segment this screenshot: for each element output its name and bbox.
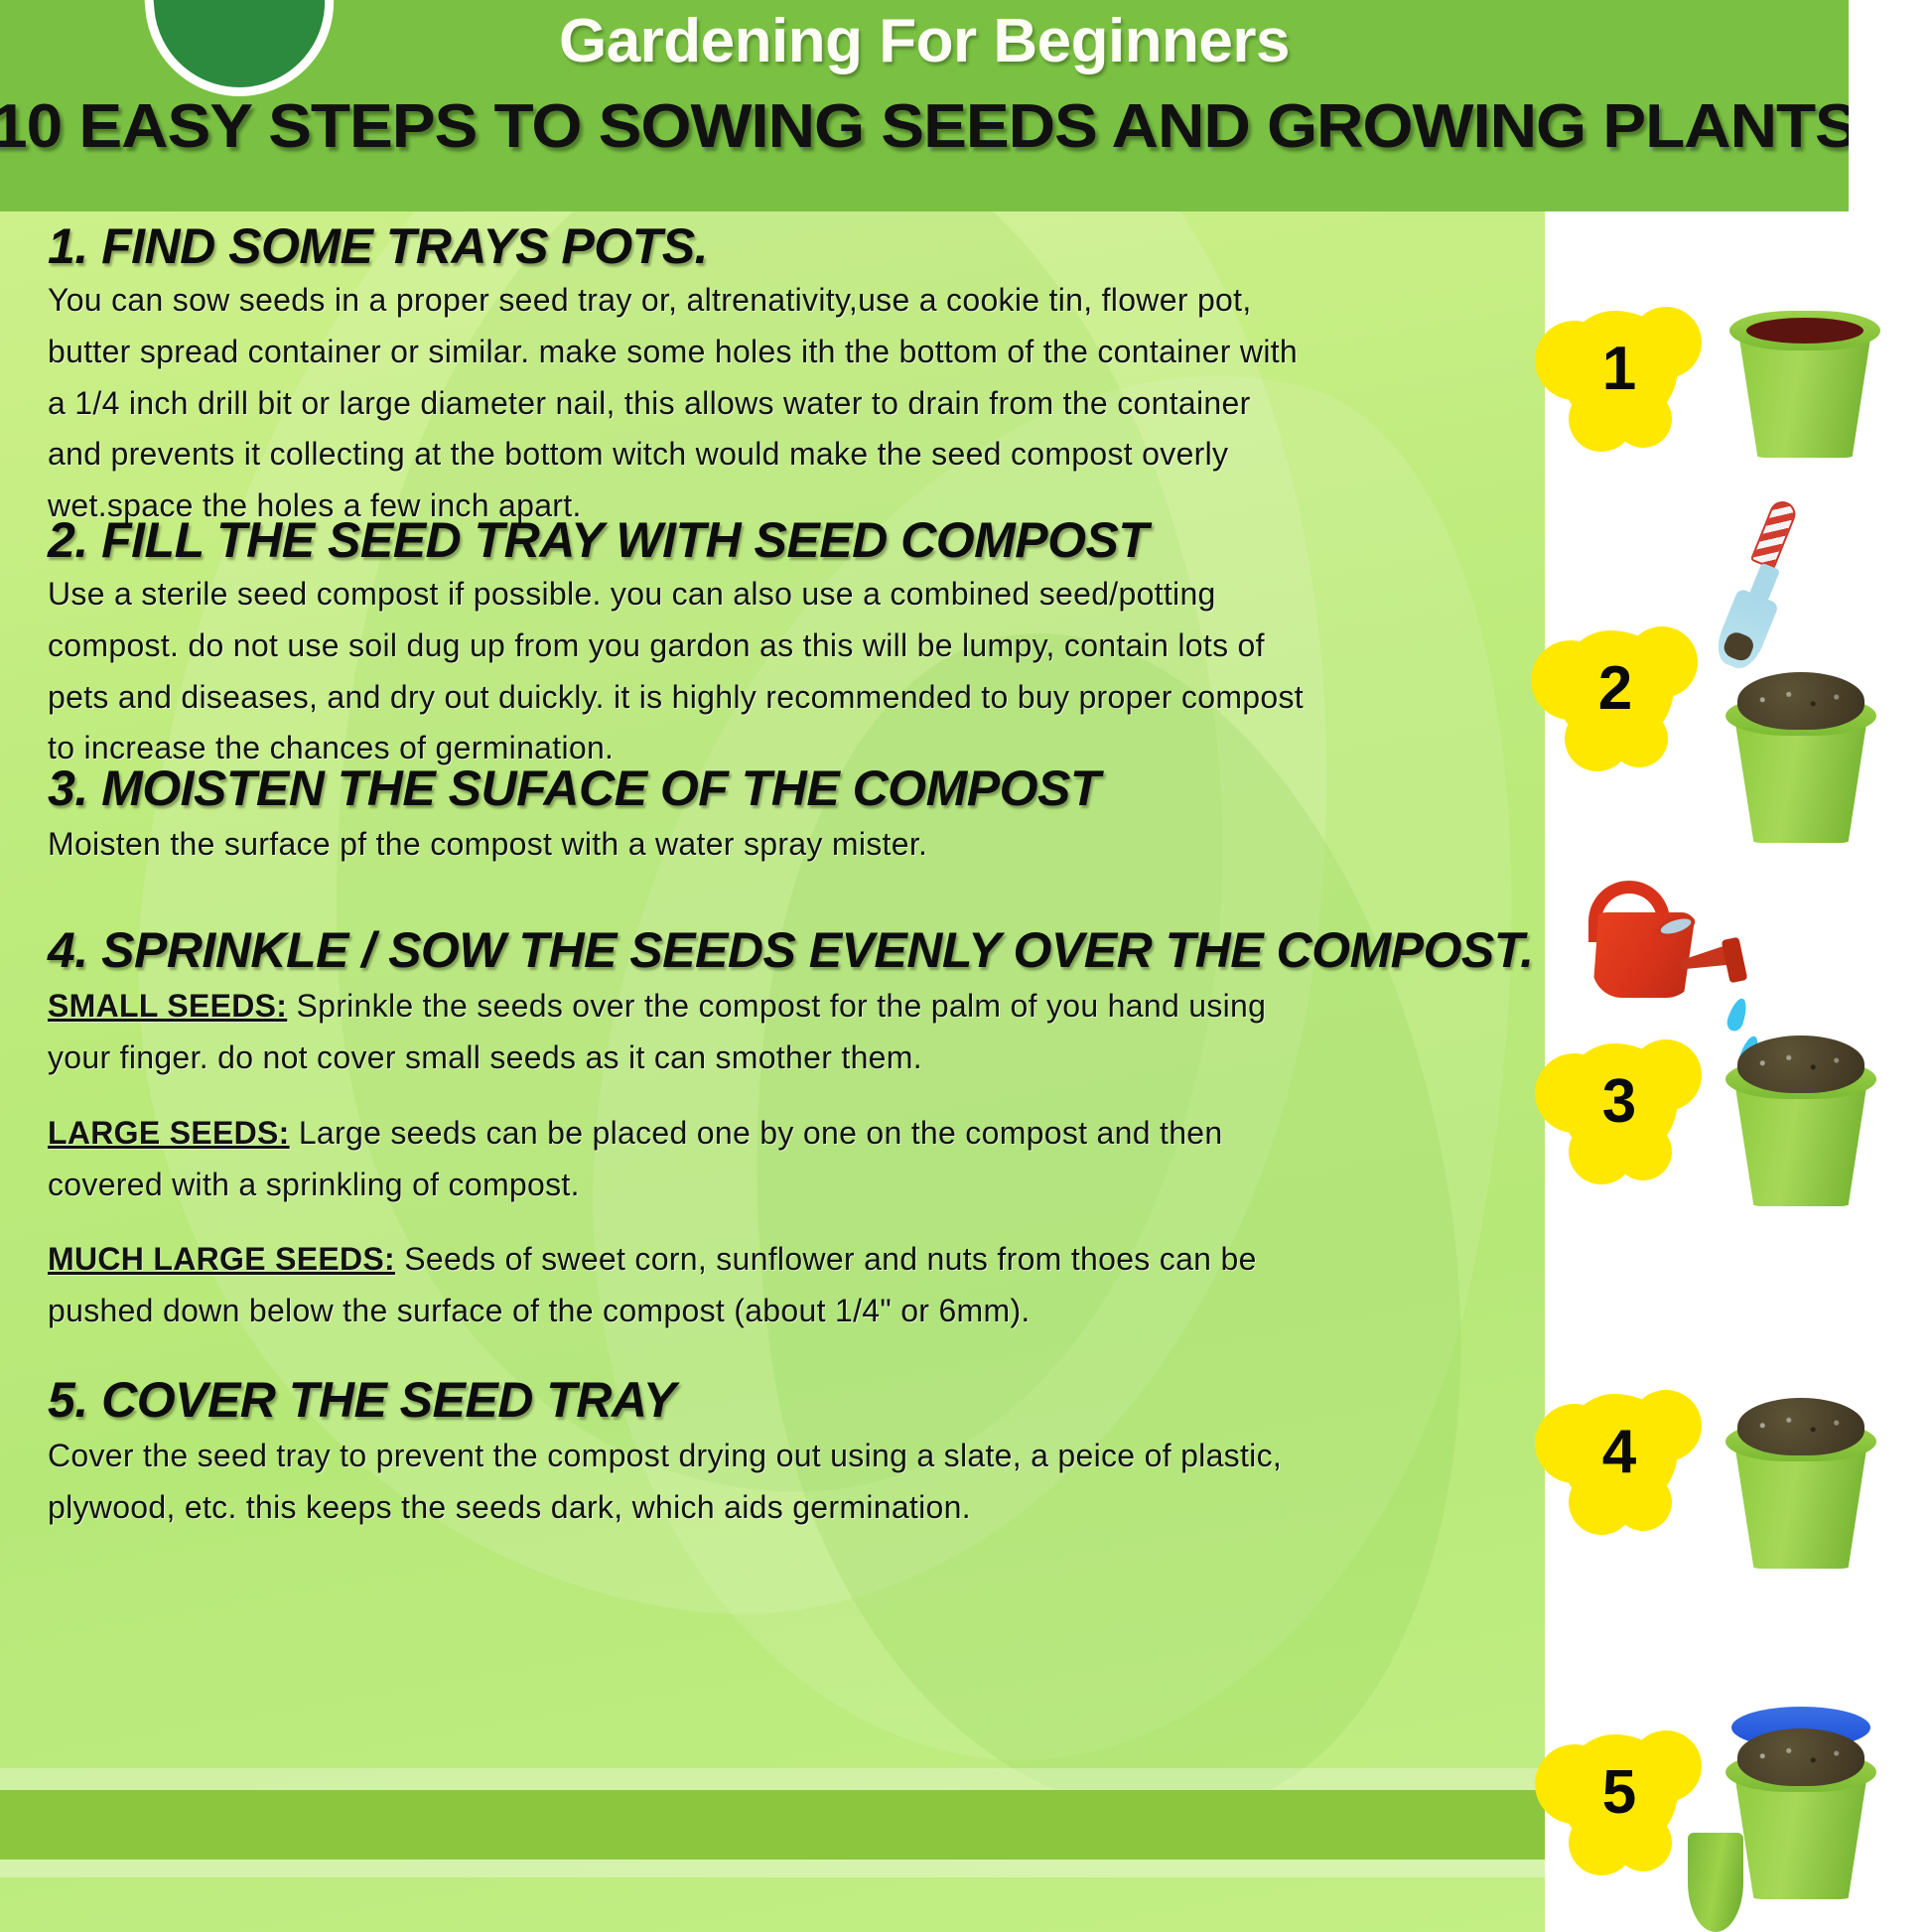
step-badge-1-number: 1 <box>1602 339 1636 400</box>
step-3-heading: 3. MOISTEN THE SUFACE OF THE COMPOST <box>48 759 1100 817</box>
trowel-icon <box>1711 497 1816 674</box>
step-badge-1: 1 <box>1561 311 1678 428</box>
step-4-heading: 4. SPRINKLE / SOW THE SEEDS EVENLY OVER … <box>48 921 1533 979</box>
empty-flower-pot-icon <box>1729 311 1880 458</box>
header-band: Gardening For Beginners 10 EASY STEPS TO… <box>0 0 1849 211</box>
small-seeds-label: SMALL SEEDS: <box>48 988 287 1024</box>
pot-with-seeds-icon <box>1725 1422 1876 1569</box>
step-badge-5: 5 <box>1561 1734 1678 1852</box>
pot-being-filled-icon <box>1725 696 1876 843</box>
page-subtitle: 10 EASY STEPS TO SOWING SEEDS AND GROWIN… <box>0 91 1849 162</box>
step-badge-5-number: 5 <box>1602 1762 1636 1824</box>
steps-list: 1. FIND SOME TRAYS POTS. You can sow see… <box>0 211 1545 1932</box>
infographic-poster: Gardening For Beginners 10 EASY STEPS TO… <box>0 0 1932 1932</box>
pot-with-compost-icon <box>1725 1059 1876 1206</box>
leaf-tip-decoration <box>1688 1833 1743 1932</box>
watering-can-icon <box>1569 887 1767 1016</box>
step-3-body: Moisten the surface pf the compost with … <box>48 819 1313 871</box>
step-4-large-seeds: LARGE SEEDS: Large seeds can be placed o… <box>48 1108 1328 1211</box>
page-title: Gardening For Beginners <box>0 6 1849 76</box>
step-badge-2-number: 2 <box>1598 658 1632 720</box>
step-2-heading: 2. FILL THE SEED TRAY WITH SEED COMPOST <box>48 511 1148 569</box>
step-badge-3-number: 3 <box>1602 1071 1636 1133</box>
step-1-body: You can sow seeds in a proper seed tray … <box>48 275 1304 532</box>
illustration-2: 2 <box>1545 509 1932 797</box>
step-4-small-seeds: SMALL SEEDS: Sprinkle the seeds over the… <box>48 981 1328 1084</box>
step-5-heading: 5. COVER THE SEED TRAY <box>48 1371 676 1429</box>
step-badge-3: 3 <box>1561 1043 1678 1161</box>
illustration-1: 1 <box>1545 291 1932 509</box>
step-badge-4: 4 <box>1561 1394 1678 1511</box>
illustration-3: 3 <box>1545 867 1932 1165</box>
step-2-body: Use a sterile seed compost if possible. … <box>48 569 1313 774</box>
step-badge-4-number: 4 <box>1602 1422 1636 1483</box>
step-5-body: Cover the seed tray to prevent the compo… <box>48 1431 1313 1534</box>
illustration-4: 4 <box>1545 1378 1932 1626</box>
step-4-much-large-seeds: MUCH LARGE SEEDS: Seeds of sweet corn, s… <box>48 1234 1328 1337</box>
content-panel: 1. FIND SOME TRAYS POTS. You can sow see… <box>0 211 1545 1932</box>
step-badge-2: 2 <box>1557 630 1674 748</box>
step-1-heading: 1. FIND SOME TRAYS POTS. <box>48 217 708 275</box>
covered-pot-icon <box>1725 1752 1876 1899</box>
illustration-column: 1 2 <box>1545 211 1932 1932</box>
large-seeds-label: LARGE SEEDS: <box>48 1115 290 1151</box>
much-large-seeds-label: MUCH LARGE SEEDS: <box>48 1241 395 1277</box>
